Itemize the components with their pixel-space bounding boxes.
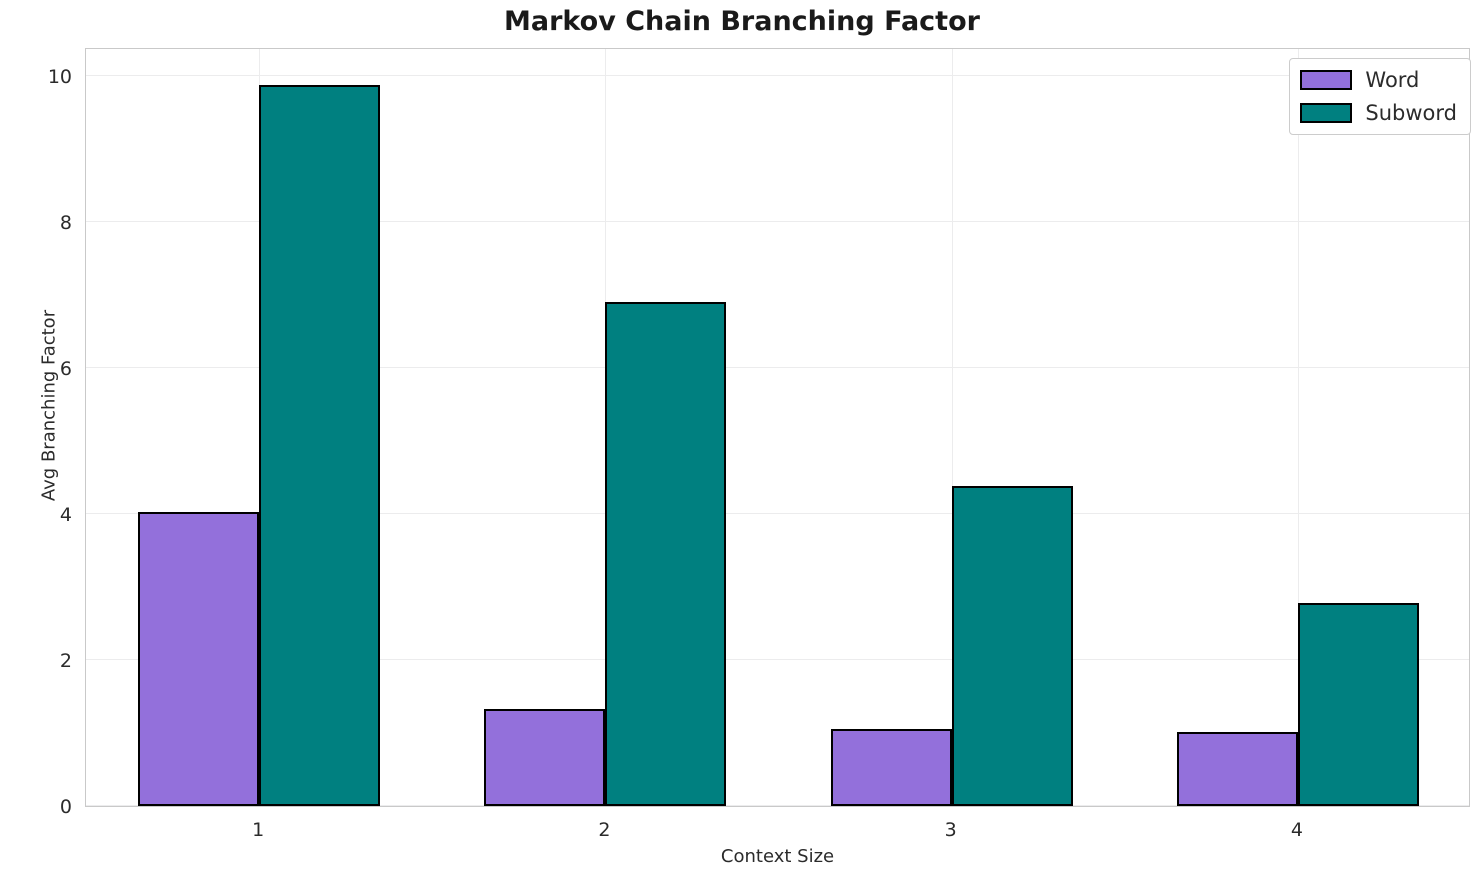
bar-subword-3	[952, 486, 1073, 806]
chart-legend: WordSubword	[1289, 58, 1471, 135]
y-tick-label: 2	[60, 650, 72, 672]
x-tick-label: 2	[598, 819, 610, 841]
bar-word-1	[138, 512, 259, 806]
bar-subword-4	[1298, 603, 1419, 806]
bar-subword-1	[259, 85, 380, 806]
x-tick-label: 3	[945, 819, 957, 841]
bar-word-2	[484, 709, 605, 806]
y-tick-label: 0	[60, 796, 72, 818]
bar-group	[86, 49, 1469, 806]
y-tick-label: 8	[60, 212, 72, 234]
bar-word-4	[1177, 732, 1298, 806]
x-tick-label: 4	[1291, 819, 1303, 841]
y-axis-label: Avg Branching Factor	[39, 26, 60, 786]
bar-word-3	[831, 729, 952, 806]
legend-swatch-word	[1300, 70, 1352, 90]
chart-figure: Markov Chain Branching Factor 0246810 Av…	[0, 0, 1484, 885]
legend-entry-subword[interactable]: Subword	[1300, 101, 1457, 125]
legend-label: Word	[1365, 68, 1419, 92]
plot-area	[85, 48, 1470, 807]
legend-swatch-subword	[1300, 103, 1352, 123]
x-tick-label: 1	[252, 819, 264, 841]
x-axis-label: Context Size	[85, 846, 1470, 867]
y-tick-label: 6	[60, 358, 72, 380]
legend-label: Subword	[1365, 101, 1457, 125]
x-axis-ticks: 1234	[85, 807, 1470, 847]
y-tick-label: 4	[60, 504, 72, 526]
chart-title: Markov Chain Branching Factor	[0, 6, 1484, 37]
legend-entry-word[interactable]: Word	[1300, 68, 1457, 92]
bar-subword-2	[605, 302, 726, 806]
